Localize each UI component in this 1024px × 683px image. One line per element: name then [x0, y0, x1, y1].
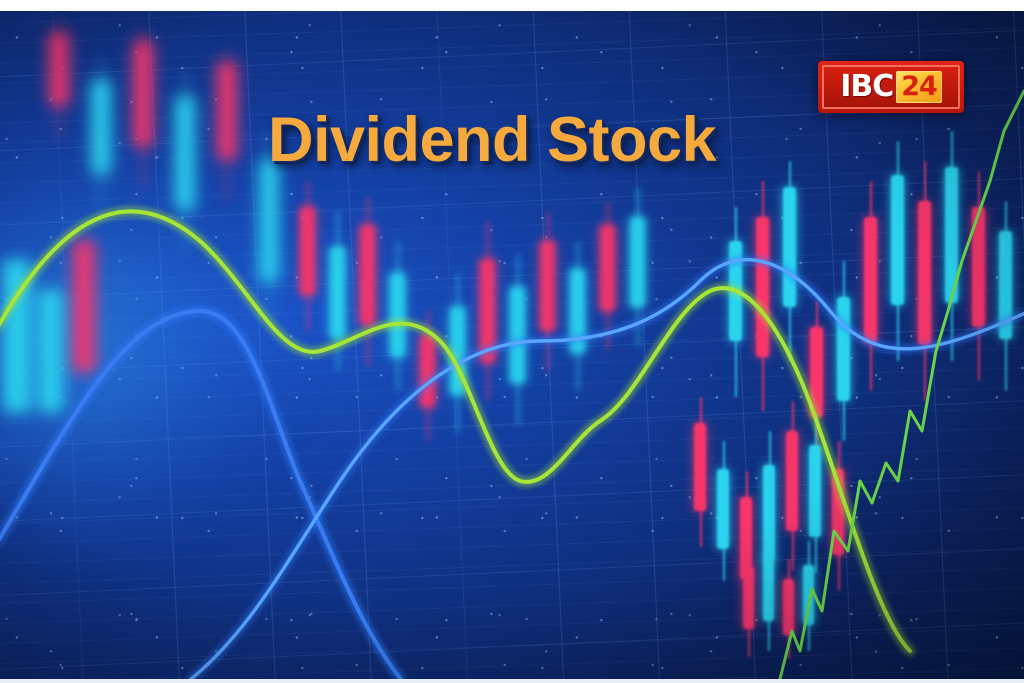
top-white-strip	[0, 0, 1024, 11]
moving-average-green-tail	[780, 91, 1024, 679]
thumbnail-canvas: Dividend Stock IBC 24	[0, 0, 1024, 683]
page-title: Dividend Stock	[268, 104, 716, 176]
ibc24-logo[interactable]: IBC 24	[818, 61, 964, 113]
logo-inner-frame: IBC 24	[822, 65, 960, 109]
logo-badge-text: 24	[896, 71, 942, 103]
bottom-edge-strip	[0, 679, 1024, 683]
logo-primary-text: IBC	[840, 72, 893, 102]
moving-average-green	[0, 211, 910, 651]
trend-line-blue	[0, 311, 420, 679]
